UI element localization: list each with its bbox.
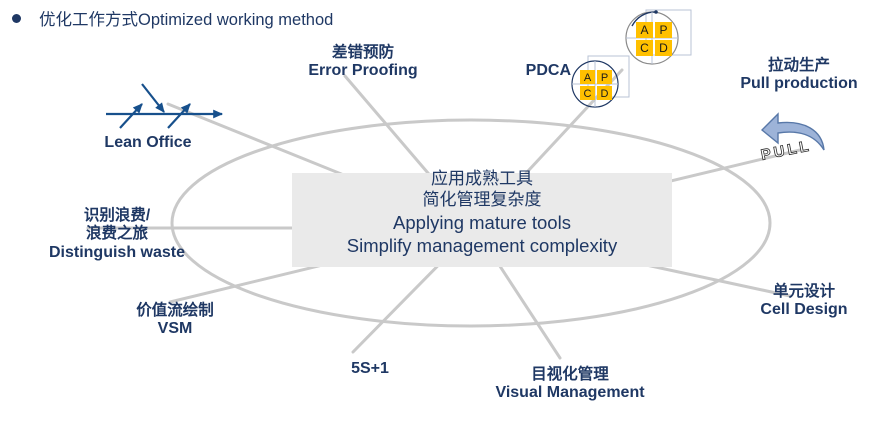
center-en-line-1: Applying mature tools (292, 211, 672, 234)
bullet-dot-icon (12, 14, 21, 23)
node-vsm-cn: 价值流绘制 (95, 302, 255, 320)
pdca-large-a: A (640, 23, 648, 37)
node-error-proofing[interactable]: 差错预防 Error Proofing (268, 44, 458, 81)
pdca-small-a: A (584, 72, 592, 84)
pdca-large-c: C (640, 41, 649, 55)
node-vsm[interactable]: 价值流绘制 VSM (95, 302, 255, 339)
slide-canvas: 优化工作方式Optimized working method 应用成熟工具 简化… (0, 0, 870, 424)
node-cell-design[interactable]: 单元设计 Cell Design (740, 283, 868, 320)
pull-arrow-text: PULL (760, 137, 813, 163)
page-title-text: 优化工作方式Optimized working method (39, 6, 333, 30)
center-cn-line-2: 简化管理复杂度 (292, 189, 672, 210)
node-distinguish-waste-cn-1: 识别浪费/ (22, 207, 212, 225)
node-error-proofing-cn: 差错预防 (268, 44, 458, 62)
node-vsm-en: VSM (95, 320, 255, 339)
center-message: 应用成熟工具 简化管理复杂度 Applying mature tools Sim… (292, 168, 672, 257)
node-visual-management[interactable]: 目视化管理 Visual Management (470, 366, 670, 403)
node-cell-design-en: Cell Design (740, 301, 868, 320)
node-pull-production-cn: 拉动生产 (728, 57, 870, 75)
center-en-line-2: Simplify management complexity (292, 234, 672, 257)
node-distinguish-waste-cn-2: 浪费之旅 (22, 225, 212, 243)
node-lean-office-en: Lean Office (78, 134, 218, 153)
node-cell-design-cn: 单元设计 (740, 283, 868, 301)
node-5s-plus-1[interactable]: 5S+1 (320, 360, 420, 379)
fishbone-diagram-icon (100, 78, 230, 130)
node-visual-management-en: Visual Management (470, 384, 670, 403)
node-distinguish-waste[interactable]: 识别浪费/ 浪费之旅 Distinguish waste (22, 207, 212, 262)
node-pdca[interactable]: PDCA (505, 62, 571, 81)
node-lean-office[interactable]: Lean Office (78, 134, 218, 153)
node-5s-plus-1-label: 5S+1 (320, 360, 420, 379)
pdca-small-p: P (601, 72, 608, 84)
pdca-large-p: P (659, 23, 667, 37)
pull-arrow-icon: PULL (748, 108, 844, 170)
node-pull-production[interactable]: 拉动生产 Pull production (728, 57, 870, 94)
node-pull-production-en: Pull production (728, 75, 870, 94)
pdca-cycle-icon-large: A P C D (620, 4, 692, 72)
center-cn-line-1: 应用成熟工具 (292, 168, 672, 189)
node-error-proofing-en: Error Proofing (268, 62, 458, 81)
node-pdca-label: PDCA (505, 62, 571, 81)
page-title: 优化工作方式Optimized working method (0, 4, 500, 32)
pdca-small-d: D (601, 88, 609, 100)
pdca-small-c: C (584, 88, 592, 100)
node-distinguish-waste-en: Distinguish waste (22, 244, 212, 263)
node-visual-management-cn: 目视化管理 (470, 366, 670, 384)
pdca-large-d: D (659, 41, 668, 55)
